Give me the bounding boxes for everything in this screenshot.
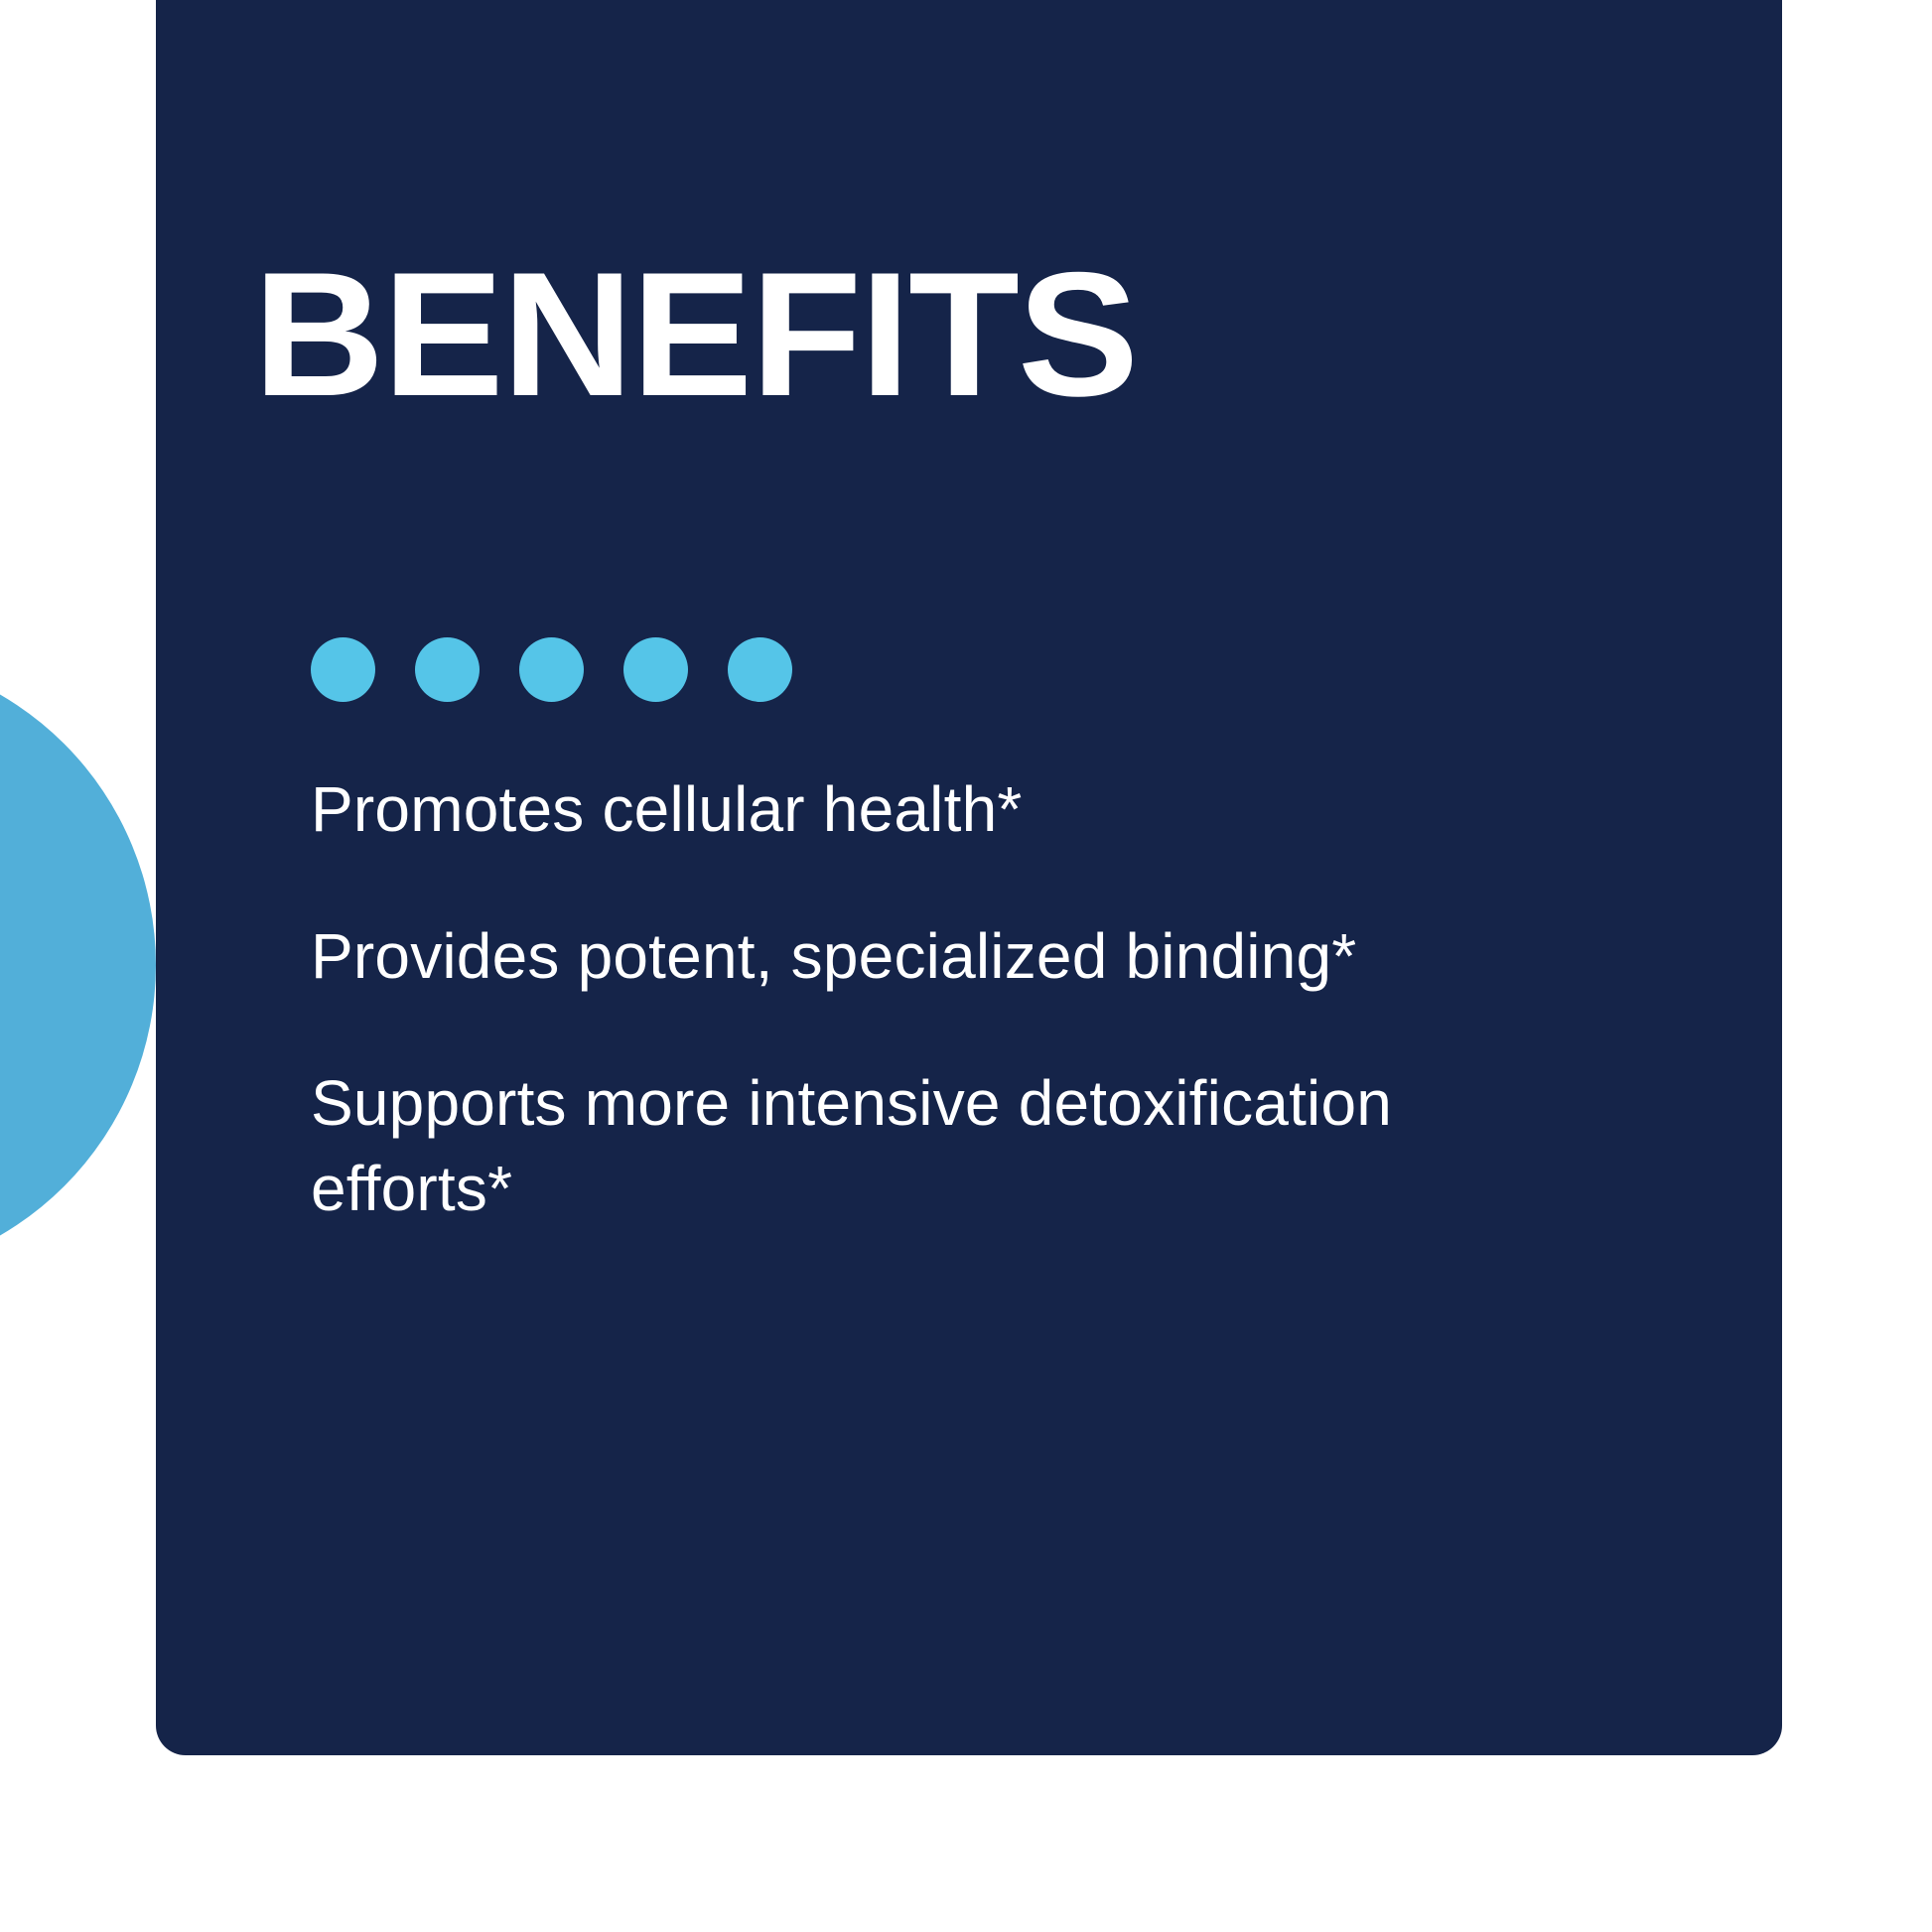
list-item: Promotes cellular health* <box>311 766 1482 852</box>
list-item: Provides potent, specialized binding* <box>311 913 1482 999</box>
list-item: Supports more intensive detoxification e… <box>311 1060 1482 1231</box>
benefits-graphic: BENEFITS Promotes cellular health* Provi… <box>0 0 1932 1932</box>
page-title: BENEFITS <box>253 246 1137 423</box>
dot-separator <box>311 637 792 702</box>
decorative-circle <box>0 652 156 1278</box>
benefits-card-content: BENEFITS Promotes cellular health* Provi… <box>156 0 1782 1755</box>
separator-dot-icon <box>519 637 584 702</box>
benefits-card: BENEFITS Promotes cellular health* Provi… <box>156 0 1782 1755</box>
separator-dot-icon <box>728 637 792 702</box>
separator-dot-icon <box>311 637 375 702</box>
benefits-list: Promotes cellular health* Provides poten… <box>311 766 1482 1231</box>
separator-dot-icon <box>415 637 480 702</box>
separator-dot-icon <box>623 637 688 702</box>
